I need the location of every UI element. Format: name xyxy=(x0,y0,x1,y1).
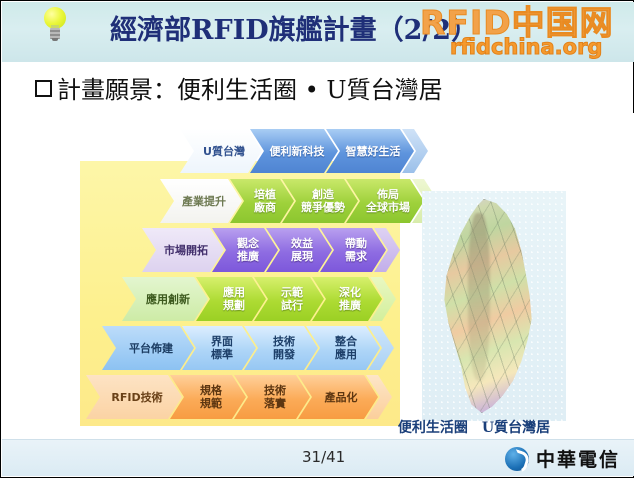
page-number: 31/41 xyxy=(302,448,345,466)
lightbulb-tip xyxy=(52,38,58,41)
slide-body: U質台灣 便利新科技 智慧好生活 產業提升 培植廠商 創造競爭優勢 佈局全球市場… xyxy=(2,113,634,441)
seg-a1: 應用規劃 xyxy=(223,286,245,312)
seg-p3: 整合應用 xyxy=(335,335,357,361)
pyramid-row-platform: 平台佈建 界面標準 技術開發 整合應用 xyxy=(102,326,394,370)
page-title: 經濟部RFID旗艦計畫（2/2） xyxy=(110,14,530,48)
chunghwa-telecom-logo-icon xyxy=(505,447,529,471)
row-head-application[interactable]: 應用創新 xyxy=(122,277,208,321)
seg-t2: 技術落實 xyxy=(264,384,286,410)
row-head-vision[interactable]: U質台灣 xyxy=(180,129,262,173)
seg-m2: 效益展現 xyxy=(291,237,313,263)
seg-a2: 示範試行 xyxy=(281,286,303,312)
taiwan-map xyxy=(422,191,566,421)
row-head-industry[interactable]: 產業提升 xyxy=(160,179,242,223)
brand-logo: 中華電信 xyxy=(505,445,620,472)
pyramid-row-industry: 產業提升 培植廠商 創造競爭優勢 佈局全球市場 xyxy=(160,179,438,223)
seg-m1: 觀念推廣 xyxy=(237,237,259,263)
row-segment-technology-3[interactable]: 產品化 xyxy=(298,375,378,419)
slide: 經濟部RFID旗艦計畫（2/2） RFID中国网 rfidchina.org 計… xyxy=(0,0,634,478)
map-caption: 便利生活圈 U質台灣居 xyxy=(374,419,574,437)
pyramid-row-vision: U質台灣 便利新科技 智慧好生活 xyxy=(180,129,428,173)
row-head-platform[interactable]: 平台佈建 xyxy=(102,326,194,370)
row-segment-vision-1[interactable]: 便利新科技 xyxy=(250,129,338,173)
seg-t1: 規格規範 xyxy=(200,384,222,410)
row-segment-vision-2[interactable]: 智慧好生活 xyxy=(326,129,414,173)
seg-p2: 技術開發 xyxy=(273,335,295,361)
subtitle-text: 計畫願景：便利生活圈 • U質台灣居 xyxy=(57,76,443,104)
subtitle: 計畫願景：便利生活圈 • U質台灣居 xyxy=(35,75,443,105)
seg-a3: 深化推廣 xyxy=(339,286,361,312)
pyramid-row-technology: RFID技術 規格規範 技術落實 產品化 xyxy=(86,375,392,419)
seg-l1: 培植廠商 xyxy=(254,188,276,214)
lightbulb-icon xyxy=(40,7,70,41)
slide-header: 經濟部RFID旗艦計畫（2/2） RFID中国网 rfidchina.org xyxy=(2,2,634,62)
seg-p1: 界面標準 xyxy=(211,335,233,361)
brand-name: 中華電信 xyxy=(536,445,620,472)
seg-t3: 產品化 xyxy=(325,391,358,404)
pyramid-row-market: 市場開拓 觀念推廣 效益展現 帶動需求 xyxy=(142,228,400,272)
seg-l2: 創造競爭優勢 xyxy=(301,188,345,214)
square-bullet-icon xyxy=(35,80,52,97)
pyramid-row-application: 應用創新 應用規劃 示範試行 深化推廣 xyxy=(122,277,396,321)
row-head-technology[interactable]: RFID技術 xyxy=(86,375,182,419)
seg-l3: 佈局全球市場 xyxy=(366,188,410,214)
slide-footer: 31/41 中華電信 xyxy=(2,439,634,476)
seg-m3: 帶動需求 xyxy=(345,237,367,263)
map-central-mountain-range xyxy=(468,213,490,381)
row-head-market[interactable]: 市場開拓 xyxy=(142,228,224,272)
